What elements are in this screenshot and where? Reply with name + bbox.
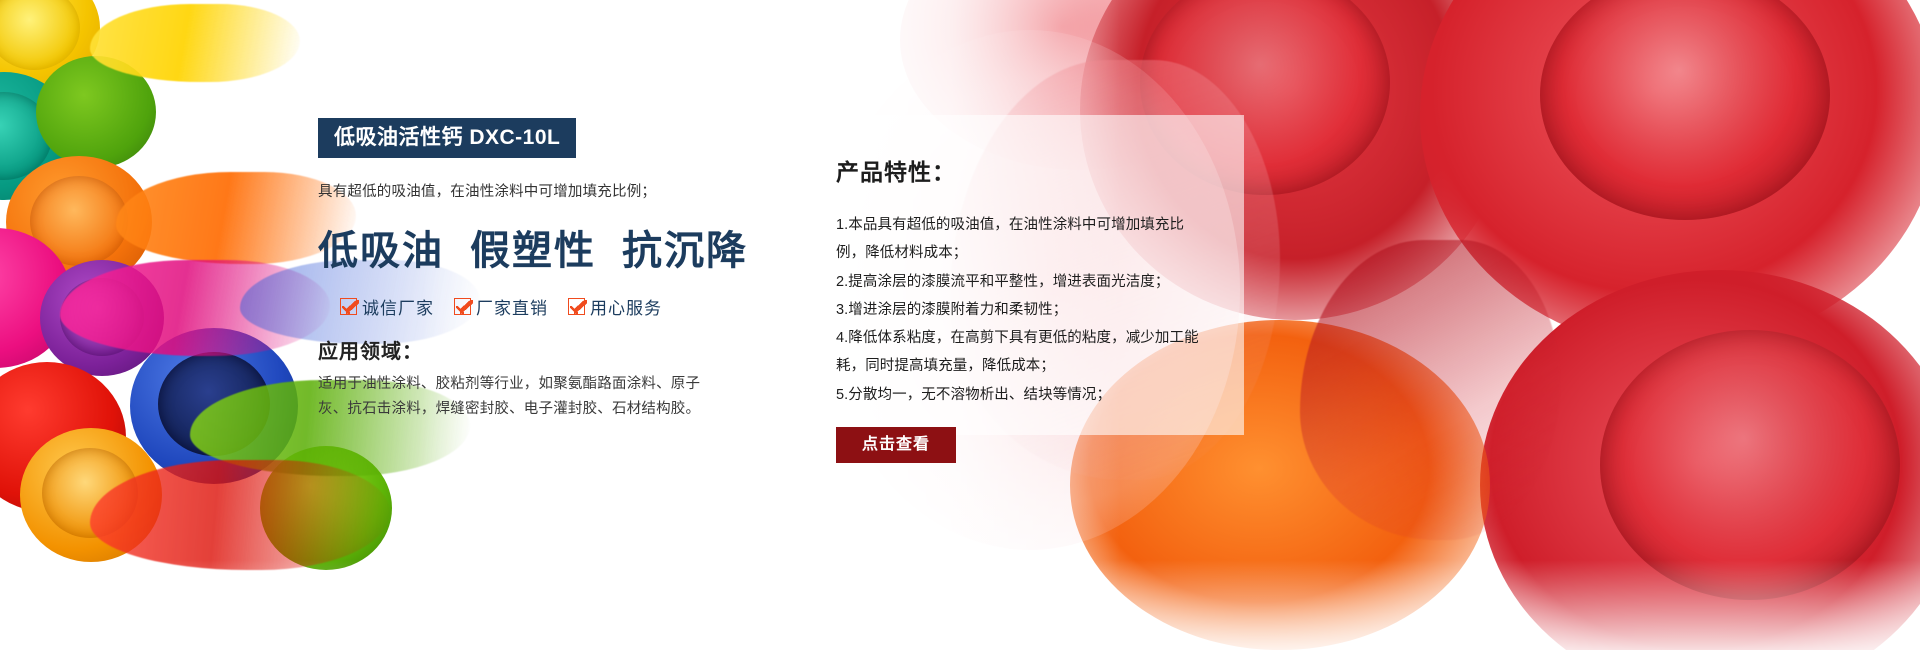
trust-badge-1-label: 诚信厂家 (362, 294, 434, 319)
paint-streak-red (90, 460, 390, 570)
trust-badge-2: 厂家直销 (454, 294, 548, 319)
application-field-body: 适用于油性涂料、胶粘剂等行业，如聚氨酯路面涂料、原子灰、抗石击涂料，焊缝密封胶、… (318, 372, 718, 423)
crimson-streak (1300, 240, 1560, 540)
paint-streak-yellow (90, 4, 300, 82)
product-subline: 具有超低的吸油值，在油性涂料中可增加填充比例； (318, 182, 748, 204)
features-list: 1.本品具有超低的吸油值，在油性涂料中可增加填充比例，降低材料成本； 2.提高涂… (836, 211, 1210, 409)
trust-badge-3-label: 用心服务 (590, 294, 662, 319)
trust-badge-row: 诚信厂家 厂家直销 用心服务 (318, 294, 748, 319)
trust-badge-2-label: 厂家直销 (476, 294, 548, 319)
application-field-title: 应用领域： (318, 335, 748, 364)
trust-badge-3: 用心服务 (568, 294, 662, 319)
feature-item-5: 5.分散均一，无不溶物析出、结块等情况； (836, 381, 1210, 409)
view-details-button[interactable]: 点击查看 (836, 427, 956, 463)
features-panel-title: 产品特性： (836, 153, 1210, 187)
checkbox-checked-icon (454, 298, 471, 315)
feature-item-3: 3.增进涂层的漆膜附着力和柔韧性； (836, 296, 1210, 324)
feature-item-1: 1.本品具有超低的吸油值，在油性涂料中可增加填充比例，降低材料成本； (836, 211, 1210, 268)
headline-keywords: 低吸油假塑性抗沉降 (318, 218, 748, 276)
bottom-white-fade (0, 560, 1920, 650)
product-features-panel: 产品特性： 1.本品具有超低的吸油值，在油性涂料中可增加填充比例，降低材料成本；… (802, 115, 1244, 435)
product-title-badge: 低吸油活性钙 DXC-10L (318, 118, 576, 158)
headline-keyword-2: 假塑性 (470, 228, 596, 273)
feature-item-2: 2.提高涂层的漆膜流平和平整性，增进表面光洁度； (836, 268, 1210, 296)
checkbox-checked-icon (568, 298, 585, 315)
headline-keyword-3: 抗沉降 (622, 228, 748, 273)
checkbox-checked-icon (340, 298, 357, 315)
trust-badge-1: 诚信厂家 (340, 294, 434, 319)
feature-item-4: 4.降低体系粘度，在高剪下具有更低的粘度，减少加工能耗，同时提高填充量，降低成本… (836, 324, 1210, 381)
headline-keyword-1: 低吸油 (318, 228, 444, 273)
left-copy-column: 低吸油活性钙 DXC-10L 具有超低的吸油值，在油性涂料中可增加填充比例； 低… (318, 118, 748, 423)
banner-stage: 低吸油活性钙 DXC-10L 具有超低的吸油值，在油性涂料中可增加填充比例； 低… (0, 0, 1920, 650)
